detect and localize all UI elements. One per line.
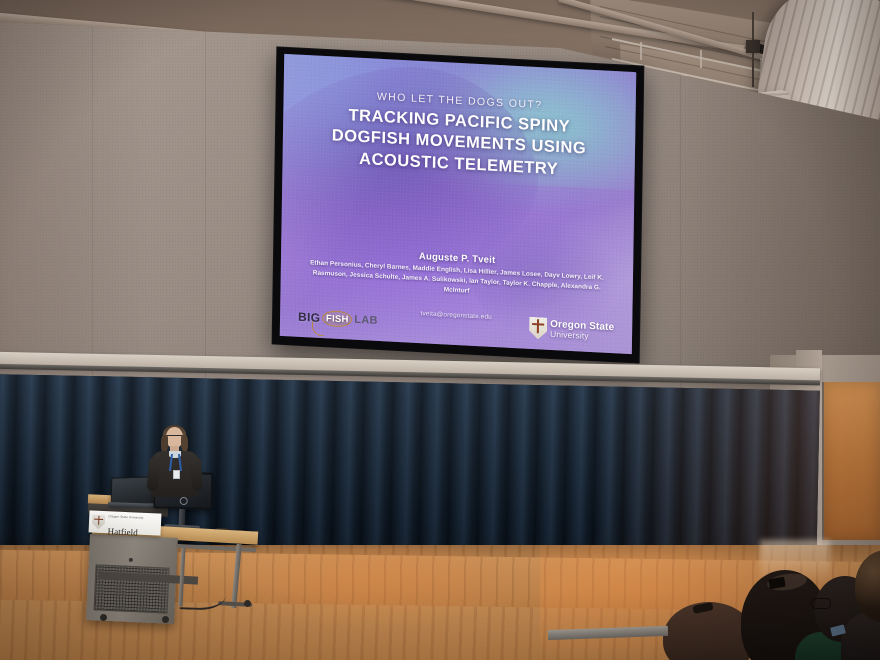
podium-caster [162,616,169,623]
hatfield-crest-icon [92,514,106,530]
presenter [145,427,205,517]
pendant-wire [752,12,754,42]
desk-caster [244,600,251,607]
presenter-badge [173,470,180,479]
podium-sign-subtitle: Oregon State University [108,514,143,520]
wooden-door-panel [822,382,880,540]
projection-screen-frame: WHO LET THE DOGS OUT? TRACKING PACIFIC S… [273,47,644,362]
slide-content: WHO LET THE DOGS OUT? TRACKING PACIFIC S… [280,54,637,354]
lecture-hall-photo: WHO LET THE DOGS OUT? TRACKING PACIFIC S… [0,0,880,660]
fish-hook-icon [312,322,324,337]
audience-silhouettes [655,520,880,660]
projection-screen: WHO LET THE DOGS OUT? TRACKING PACIFIC S… [280,54,637,354]
bfl-word-lab: LAB [354,314,378,327]
desk-leg-right [231,544,242,608]
presenter-glasses [167,435,182,439]
pendant-wire [752,53,754,87]
desk-frame-rail [176,544,256,552]
podium-caster [100,614,107,621]
presenter-hair-right [181,435,188,452]
presenter-arm-right [190,457,204,492]
podium-sign-title: Hatfield [107,526,138,537]
power-cable [180,583,227,611]
rail-post [640,42,642,60]
cabinet-knob[interactable] [129,558,133,562]
oregon-state-logo: Oregon State University [529,317,614,343]
osu-wordmark: Oregon State University [550,320,614,342]
pendant-fixture [746,40,760,53]
floor-warm-glow-secondary [220,548,520,628]
rail-post [700,50,702,68]
audience-glasses [811,598,831,609]
osu-shield-icon [529,317,547,340]
